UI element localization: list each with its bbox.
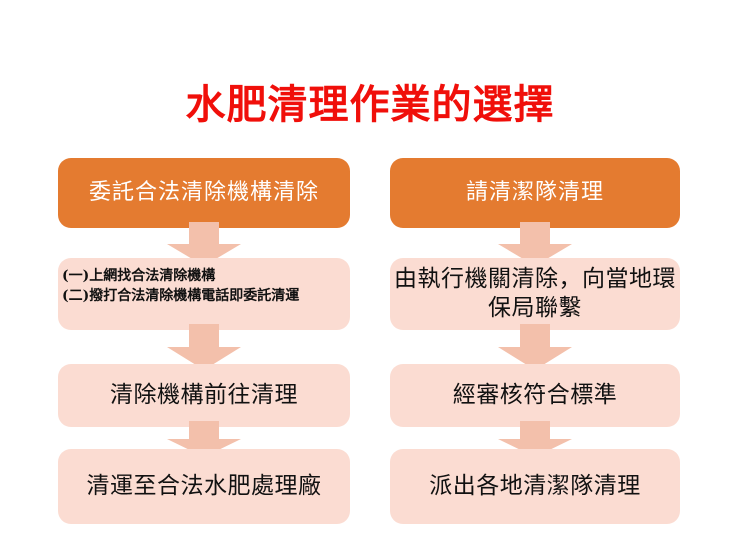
list-item: (二)撥打合法清除機構電話即委託清運: [62, 286, 344, 306]
flow-step-right-1[interactable]: 由執行機關清除，向當地環保局聯繫: [390, 258, 680, 330]
list-item: (一)上網找合法清除機構: [62, 266, 344, 286]
flow-step-left-1[interactable]: (一)上網找合法清除機構 (二)撥打合法清除機構電話即委託清運: [58, 258, 350, 330]
slide-canvas: 水肥清理作業的選擇 委託合法清除機構清除 (一)上網找合法清除機構 (二)撥打合…: [0, 0, 740, 546]
flow-step-left-3[interactable]: 清運至合法水肥處理廠: [58, 449, 350, 524]
flow-header-right[interactable]: 請清潔隊清理: [390, 158, 680, 228]
flow-header-left[interactable]: 委託合法清除機構清除: [58, 158, 350, 228]
flow-step-right-3[interactable]: 派出各地清潔隊清理: [390, 449, 680, 524]
flow-step-right-2[interactable]: 經審核符合標準: [390, 364, 680, 427]
page-title: 水肥清理作業的選擇: [0, 84, 740, 126]
flow-step-left-2[interactable]: 清除機構前往清理: [58, 364, 350, 427]
